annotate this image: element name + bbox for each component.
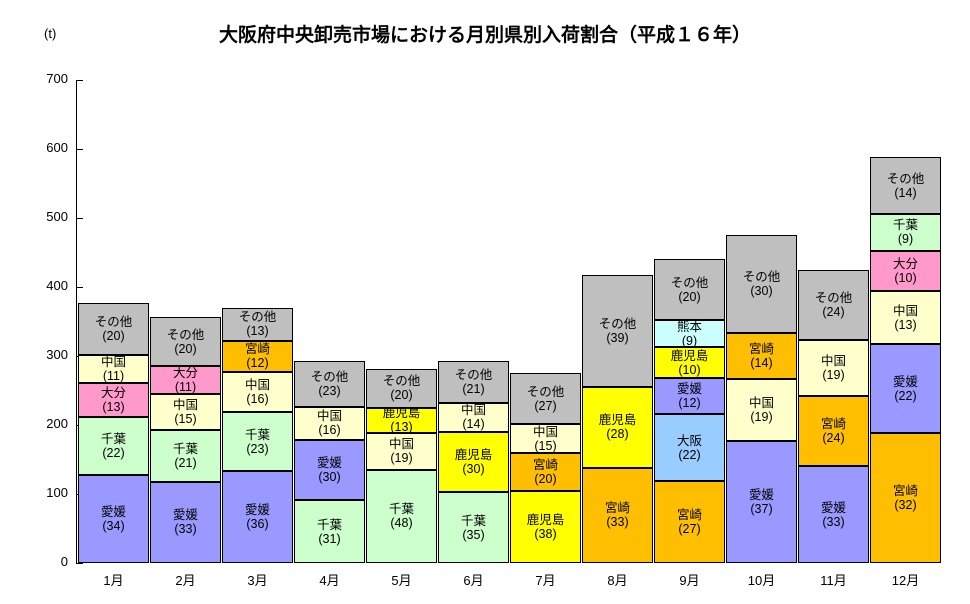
segment-value: (24) — [822, 431, 844, 445]
bar-segment-4月-中国: 中国(16) — [294, 407, 365, 439]
bar-7月: 鹿児島(38)宮崎(20)中国(15)その他(27) — [510, 373, 581, 563]
segment-value: (30) — [750, 284, 772, 298]
segment-value: (34) — [102, 519, 124, 533]
segment-label: 愛媛 — [245, 503, 270, 517]
y-axis-tick-label: 400 — [22, 278, 68, 293]
bar-6月: 千葉(35)鹿児島(30)中国(14)その他(21) — [438, 361, 509, 563]
segment-label: 愛媛 — [173, 508, 198, 522]
bar-segment-9月-愛媛: 愛媛(12) — [654, 378, 725, 414]
bar-10月: 愛媛(37)中国(19)宮崎(14)その他(30) — [726, 235, 797, 563]
bar-segment-12月-宮崎: 宮崎(32) — [870, 433, 941, 563]
bar-segment-4月-その他: その他(23) — [294, 361, 365, 407]
segment-value: (12) — [678, 396, 700, 410]
bar-segment-7月-その他: その他(27) — [510, 373, 581, 424]
segment-label: 愛媛 — [101, 505, 126, 519]
segment-label: 中国 — [893, 304, 918, 318]
segment-label: 中国 — [101, 355, 126, 369]
segment-label: 千葉 — [461, 514, 486, 528]
stacked-bar-chart: 7006005004003002001000愛媛(34)千葉(22)大分(13)… — [0, 0, 970, 604]
segment-label: 大分 — [173, 366, 198, 380]
bar-segment-3月-その他: その他(13) — [222, 308, 293, 341]
bar-segment-2月-大分: 大分(11) — [150, 366, 221, 393]
segment-label: 中国 — [461, 403, 486, 417]
segment-label: その他 — [239, 310, 277, 324]
segment-value: (24) — [822, 305, 844, 319]
segment-label: 鹿児島 — [383, 408, 421, 421]
bar-segment-9月-大阪: 大阪(22) — [654, 414, 725, 481]
bar-segment-1月-その他: その他(20) — [78, 303, 149, 355]
segment-value: (22) — [102, 446, 124, 460]
y-axis-tick-label: 200 — [22, 416, 68, 431]
segment-label: 大分 — [101, 386, 126, 400]
bar-segment-9月-熊本: 熊本(9) — [654, 320, 725, 347]
segment-label: 大阪 — [677, 434, 702, 448]
segment-value: (20) — [534, 472, 556, 486]
segment-value: (27) — [534, 399, 556, 413]
segment-label: その他 — [311, 370, 349, 384]
segment-label: 中国 — [821, 354, 846, 368]
segment-value: (23) — [246, 442, 268, 456]
segment-value: (32) — [894, 498, 916, 512]
y-axis-tick — [76, 287, 83, 288]
segment-value: (14) — [894, 186, 916, 200]
y-axis-tick-label: 500 — [22, 209, 68, 224]
bar-segment-1月-中国: 中国(11) — [78, 355, 149, 384]
segment-value: (35) — [462, 528, 484, 542]
segment-label: 中国 — [389, 437, 414, 451]
segment-label: 鹿児島 — [599, 413, 637, 427]
segment-value: (16) — [318, 423, 340, 437]
bar-segment-5月-千葉: 千葉(48) — [366, 470, 437, 563]
bar-segment-12月-大分: 大分(10) — [870, 251, 941, 292]
bar-segment-10月-その他: その他(30) — [726, 235, 797, 334]
x-axis-label-9月: 9月 — [654, 570, 725, 589]
segment-value: (33) — [174, 522, 196, 536]
segment-label: 熊本 — [677, 320, 702, 334]
segment-label: 愛媛 — [893, 375, 918, 389]
bar-segment-11月-愛媛: 愛媛(33) — [798, 466, 869, 563]
bar-segment-4月-千葉: 千葉(31) — [294, 500, 365, 563]
segment-label: その他 — [743, 270, 781, 284]
bar-segment-3月-中国: 中国(16) — [222, 372, 293, 413]
segment-label: 愛媛 — [749, 488, 774, 502]
segment-value: (15) — [174, 412, 196, 426]
segment-value: (10) — [894, 271, 916, 285]
bar-12月: 宮崎(32)愛媛(22)中国(13)大分(10)千葉(9)その他(14) — [870, 157, 941, 563]
segment-value: (9) — [682, 334, 697, 348]
bar-9月: 宮崎(27)大阪(22)愛媛(12)鹿児島(10)熊本(9)その他(20) — [654, 259, 725, 563]
segment-label: 千葉 — [101, 432, 126, 446]
bar-segment-2月-その他: その他(20) — [150, 317, 221, 366]
bar-segment-2月-中国: 中国(15) — [150, 394, 221, 431]
segment-label: 宮崎 — [821, 417, 846, 431]
segment-value: (13) — [246, 324, 268, 338]
bar-segment-1月-千葉: 千葉(22) — [78, 417, 149, 474]
segment-label: 中国 — [749, 396, 774, 410]
x-axis-label-6月: 6月 — [438, 570, 509, 589]
segment-label: その他 — [671, 276, 709, 290]
segment-value: (20) — [174, 342, 196, 356]
y-axis-tick — [76, 563, 83, 564]
bar-segment-10月-宮崎: 宮崎(14) — [726, 333, 797, 379]
x-axis-label-11月: 11月 — [798, 570, 869, 589]
bar-1月: 愛媛(34)千葉(22)大分(13)中国(11)その他(20) — [78, 303, 149, 563]
segment-value: (12) — [246, 356, 268, 370]
segment-label: 宮崎 — [245, 342, 270, 356]
segment-label: 愛媛 — [677, 382, 702, 396]
segment-value: (20) — [102, 329, 124, 343]
bar-segment-7月-中国: 中国(15) — [510, 424, 581, 452]
segment-label: その他 — [887, 172, 925, 186]
x-axis-label-10月: 10月 — [726, 570, 797, 589]
bar-segment-3月-愛媛: 愛媛(36) — [222, 471, 293, 563]
bar-segment-2月-千葉: 千葉(21) — [150, 430, 221, 482]
segment-value: (10) — [678, 363, 700, 377]
segment-label: 千葉 — [893, 218, 918, 232]
bar-segment-6月-鹿児島: 鹿児島(30) — [438, 432, 509, 493]
segment-value: (30) — [462, 462, 484, 476]
segment-value: (33) — [606, 515, 628, 529]
segment-label: 愛媛 — [317, 456, 342, 470]
x-axis-label-12月: 12月 — [870, 570, 941, 589]
segment-label: その他 — [383, 374, 421, 388]
bar-segment-7月-宮崎: 宮崎(20) — [510, 453, 581, 491]
segment-value: (19) — [390, 451, 412, 465]
bar-segment-6月-千葉: 千葉(35) — [438, 492, 509, 563]
segment-value: (19) — [750, 410, 772, 424]
segment-value: (21) — [174, 456, 196, 470]
segment-label: 愛媛 — [821, 501, 846, 515]
bar-2月: 愛媛(33)千葉(21)中国(15)大分(11)その他(20) — [150, 317, 221, 563]
y-axis-tick — [76, 149, 83, 150]
segment-value: (22) — [678, 448, 700, 462]
bar-segment-5月-鹿児島: 鹿児島(13) — [366, 408, 437, 433]
segment-value: (19) — [822, 368, 844, 382]
y-axis-tick — [76, 80, 83, 81]
chart-page: (t) 大阪府中央卸売市場における月別県別入荷割合（平成１６年） 7006005… — [0, 0, 970, 604]
segment-label: 宮崎 — [893, 484, 918, 498]
segment-label: その他 — [455, 368, 493, 382]
segment-label: その他 — [527, 385, 565, 399]
x-axis-label-3月: 3月 — [222, 570, 293, 589]
x-axis-label-8月: 8月 — [582, 570, 653, 589]
bar-11月: 愛媛(33)宮崎(24)中国(19)その他(24) — [798, 270, 869, 563]
segment-value: (28) — [606, 427, 628, 441]
segment-value: (14) — [462, 417, 484, 431]
segment-label: 千葉 — [173, 442, 198, 456]
segment-label: 中国 — [245, 378, 270, 392]
bar-segment-3月-千葉: 千葉(23) — [222, 412, 293, 471]
bar-segment-12月-その他: その他(14) — [870, 157, 941, 214]
x-axis-label-2月: 2月 — [150, 570, 221, 589]
segment-value: (15) — [534, 439, 556, 453]
x-axis-label-7月: 7月 — [510, 570, 581, 589]
segment-value: (11) — [175, 380, 196, 394]
segment-label: その他 — [815, 291, 853, 305]
segment-value: (31) — [318, 532, 340, 546]
segment-label: 中国 — [173, 398, 198, 412]
segment-label: 中国 — [533, 425, 558, 439]
bar-segment-1月-愛媛: 愛媛(34) — [78, 475, 149, 563]
bar-segment-6月-その他: その他(21) — [438, 361, 509, 403]
segment-value: (37) — [750, 502, 772, 516]
segment-value: (20) — [678, 290, 700, 304]
bar-segment-5月-中国: 中国(19) — [366, 433, 437, 470]
bar-8月: 宮崎(33)鹿児島(28)その他(39) — [582, 275, 653, 563]
segment-value: (13) — [894, 318, 916, 332]
bar-4月: 千葉(31)愛媛(30)中国(16)その他(23) — [294, 361, 365, 563]
segment-label: 千葉 — [389, 502, 414, 516]
segment-label: 鹿児島 — [455, 448, 493, 462]
segment-value: (22) — [894, 389, 916, 403]
segment-value: (33) — [822, 515, 844, 529]
segment-label: その他 — [167, 328, 205, 342]
segment-value: (13) — [390, 420, 412, 433]
bar-segment-12月-千葉: 千葉(9) — [870, 214, 941, 251]
bar-segment-9月-宮崎: 宮崎(27) — [654, 481, 725, 563]
segment-value: (23) — [318, 384, 340, 398]
bar-segment-7月-鹿児島: 鹿児島(38) — [510, 491, 581, 563]
segment-value: (13) — [102, 400, 124, 414]
segment-label: 中国 — [317, 409, 342, 423]
bar-segment-1月-大分: 大分(13) — [78, 383, 149, 417]
bar-segment-8月-鹿児島: 鹿児島(28) — [582, 387, 653, 468]
bar-segment-9月-その他: その他(20) — [654, 259, 725, 320]
y-axis-tick-label: 0 — [22, 554, 68, 569]
segment-label: その他 — [95, 315, 133, 329]
bar-segment-12月-愛媛: 愛媛(22) — [870, 344, 941, 433]
segment-label: 大分 — [893, 257, 918, 271]
bar-segment-12月-中国: 中国(13) — [870, 291, 941, 344]
segment-label: その他 — [599, 317, 637, 331]
segment-label: 宮崎 — [677, 508, 702, 522]
segment-value: (21) — [462, 382, 484, 396]
y-axis-tick-label: 700 — [22, 71, 68, 86]
bar-segment-4月-愛媛: 愛媛(30) — [294, 440, 365, 501]
bar-segment-10月-愛媛: 愛媛(37) — [726, 441, 797, 563]
segment-value: (11) — [103, 369, 124, 383]
x-axis-label-5月: 5月 — [366, 570, 437, 589]
segment-value: (9) — [898, 232, 913, 246]
segment-label: 宮崎 — [533, 458, 558, 472]
segment-label: 鹿児島 — [671, 349, 709, 363]
segment-value: (30) — [318, 470, 340, 484]
y-axis-tick-label: 100 — [22, 485, 68, 500]
segment-label: 鹿児島 — [527, 513, 565, 527]
segment-label: 宮崎 — [749, 342, 774, 356]
bar-segment-6月-中国: 中国(14) — [438, 403, 509, 431]
segment-value: (48) — [390, 516, 412, 530]
bar-segment-10月-中国: 中国(19) — [726, 379, 797, 441]
segment-value: (38) — [534, 527, 556, 541]
bar-segment-2月-愛媛: 愛媛(33) — [150, 482, 221, 563]
segment-label: 千葉 — [317, 518, 342, 532]
y-axis-line — [76, 80, 77, 563]
bar-segment-5月-その他: その他(20) — [366, 369, 437, 408]
bar-segment-8月-宮崎: 宮崎(33) — [582, 468, 653, 563]
bar-segment-11月-その他: その他(24) — [798, 270, 869, 340]
segment-value: (16) — [246, 392, 268, 406]
y-axis-tick-label: 300 — [22, 347, 68, 362]
segment-label: 宮崎 — [605, 501, 630, 515]
x-axis-label-1月: 1月 — [78, 570, 149, 589]
bar-segment-11月-宮崎: 宮崎(24) — [798, 396, 869, 466]
y-axis-tick — [76, 218, 83, 219]
x-axis-label-4月: 4月 — [294, 570, 365, 589]
segment-value: (27) — [678, 522, 700, 536]
segment-value: (39) — [606, 331, 628, 345]
segment-value: (14) — [750, 356, 772, 370]
bar-segment-9月-鹿児島: 鹿児島(10) — [654, 347, 725, 377]
segment-value: (36) — [246, 517, 268, 531]
y-axis-tick-label: 600 — [22, 140, 68, 155]
bar-segment-3月-宮崎: 宮崎(12) — [222, 341, 293, 372]
bar-segment-11月-中国: 中国(19) — [798, 340, 869, 396]
bar-5月: 千葉(48)中国(19)鹿児島(13)その他(20) — [366, 369, 437, 563]
bar-3月: 愛媛(36)千葉(23)中国(16)宮崎(12)その他(13) — [222, 308, 293, 563]
segment-label: 千葉 — [245, 428, 270, 442]
bar-segment-8月-その他: その他(39) — [582, 275, 653, 387]
segment-value: (20) — [390, 388, 412, 402]
